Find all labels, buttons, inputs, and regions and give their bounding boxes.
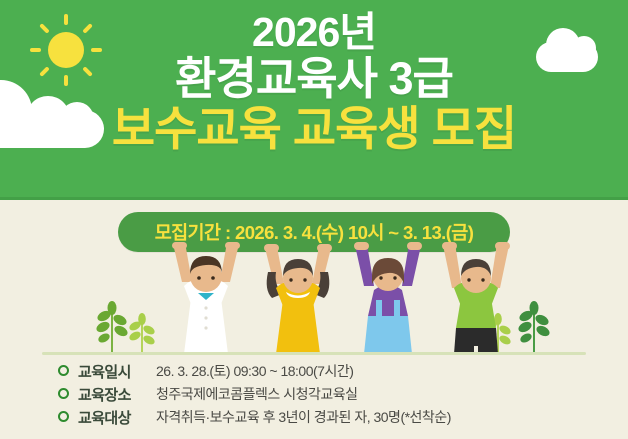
info-value-location: 청주국제에코콤플렉스 시청각교육실 — [156, 384, 357, 404]
bullet-ring-icon — [58, 411, 69, 422]
children-illustration — [0, 242, 628, 354]
kid-purple-overalls — [340, 242, 436, 354]
kid-green-shirt — [428, 242, 524, 354]
poster-title-group: 2026년 환경교육사 3급 보수교육 교육생 모집 — [0, 12, 628, 153]
info-value-target: 자격취득·보수교육 후 3년이 경과된 자, 30명(*선착순) — [156, 407, 451, 427]
kid-white-shirt — [160, 242, 252, 354]
title-line-recruit: 보수교육 교육생 모집 — [0, 105, 628, 153]
ground-line — [42, 352, 586, 355]
bullet-ring-icon — [58, 388, 69, 399]
info-value-date: 26. 3. 28.(토) 09:30 ~ 18:00(7시간) — [156, 361, 353, 381]
info-row-target: 교육대상 자격취득·보수교육 후 3년이 경과된 자, 30명(*선착순) — [0, 407, 628, 430]
bullet-ring-icon — [58, 365, 69, 376]
info-list: 교육일시 26. 3. 28.(토) 09:30 ~ 18:00(7시간) 교육… — [0, 361, 628, 430]
info-row-location: 교육장소 청주국제에코콤플렉스 시청각교육실 — [0, 384, 628, 407]
info-label-date: 교육일시 — [78, 361, 156, 382]
kid-yellow-sweater — [250, 242, 346, 354]
poster-header: 2026년 환경교육사 3급 보수교육 교육생 모집 — [0, 0, 628, 200]
info-label-location: 교육장소 — [78, 384, 156, 405]
title-line-year: 2026년 — [0, 12, 628, 54]
info-label-target: 교육대상 — [78, 407, 156, 428]
poster-root: 2026년 환경교육사 3급 보수교육 교육생 모집 모집기간 : 2026. … — [0, 0, 628, 439]
title-line-course: 환경교육사 3급 — [0, 56, 628, 102]
info-row-date: 교육일시 26. 3. 28.(토) 09:30 ~ 18:00(7시간) — [0, 361, 628, 384]
